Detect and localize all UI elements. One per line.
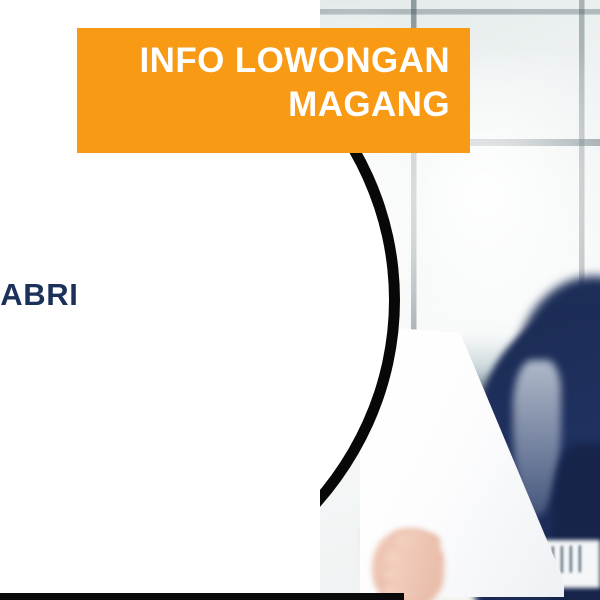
asabri-logo-wordmark: ASABRI [0,277,78,313]
poster-canvas: ASABRI INFO LOWONGAN MAGANG [0,0,600,600]
headline-banner: INFO LOWONGAN MAGANG [77,28,470,153]
headline-line-2: MAGANG [77,83,450,127]
hand-finger-middle [387,549,441,568]
bottom-black-strip [0,593,404,600]
headline-line-1: INFO LOWONGAN [77,39,450,83]
hand-finger-index [396,532,440,550]
